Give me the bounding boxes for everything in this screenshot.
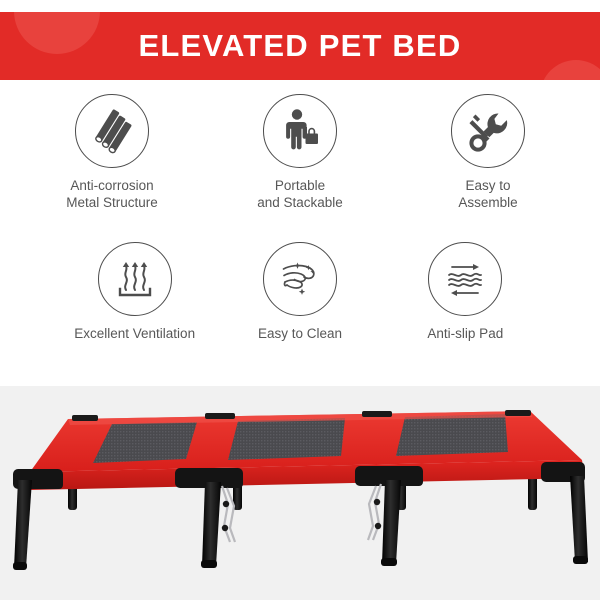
wavy-lines-arrows-icon xyxy=(428,242,502,316)
feature-label: Easy to Assemble xyxy=(458,177,517,211)
feature-label: Excellent Ventilation xyxy=(74,325,195,342)
airflow-arrows-icon xyxy=(98,242,172,316)
feature-easy-to-clean: Easy to Clean xyxy=(217,242,382,342)
product-photo-section xyxy=(0,386,600,600)
header-banner: ELEVATED PET BED xyxy=(0,12,600,80)
page-title: ELEVATED PET BED xyxy=(0,12,600,80)
elevated-pet-bed-photo xyxy=(0,386,600,600)
feature-label: Portable and Stackable xyxy=(257,177,343,211)
feature-row-2: Excellent Ventilation xyxy=(0,242,600,342)
wrench-screwdriver-icon xyxy=(451,94,525,168)
metal-pipes-icon xyxy=(75,94,149,168)
feature-row-1: Anti-corrosion Metal Structure Porta xyxy=(0,94,600,211)
feature-grid: Anti-corrosion Metal Structure Porta xyxy=(0,94,600,386)
feature-anti-corrosion: Anti-corrosion Metal Structure xyxy=(27,94,197,211)
feature-label: Anti-slip Pad xyxy=(427,325,503,342)
feature-label: Easy to Clean xyxy=(258,325,342,342)
feature-easy-assemble: Easy to Assemble xyxy=(403,94,573,211)
feature-excellent-ventilation: Excellent Ventilation xyxy=(52,242,217,342)
feature-anti-slip-pad: Anti-slip Pad xyxy=(383,242,548,342)
person-carrying-bag-icon xyxy=(263,94,337,168)
hand-wiping-cloth-icon xyxy=(263,242,337,316)
feature-portable-stackable: Portable and Stackable xyxy=(215,94,385,211)
infographic-page: ELEVATED PET BED xyxy=(0,0,600,600)
feature-label: Anti-corrosion Metal Structure xyxy=(66,177,158,211)
